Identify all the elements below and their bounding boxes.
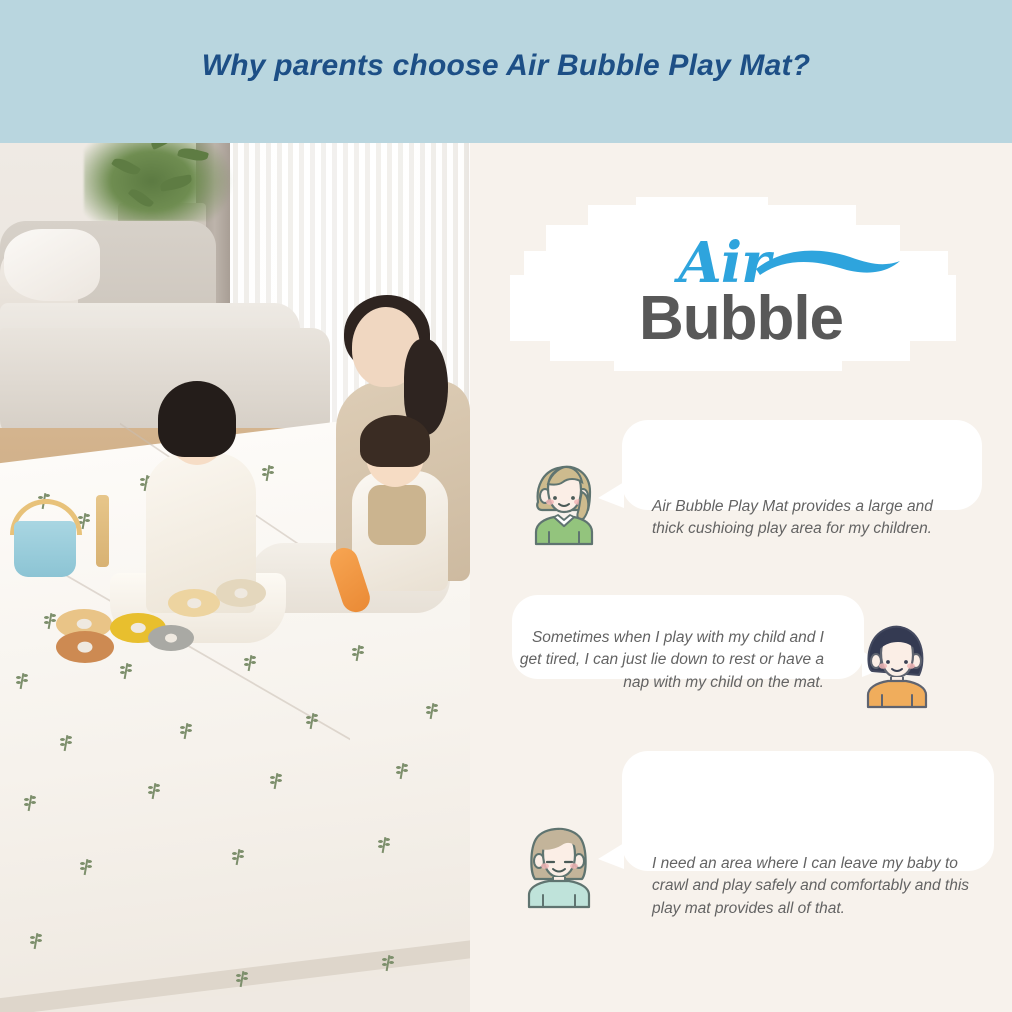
logo-bubble-text: Bubble — [510, 288, 972, 350]
avatar-dark-bob-orange-sweater — [864, 621, 930, 709]
testimonial-1: Air Bubble Play Mat provides a large and… — [470, 420, 1012, 570]
baby-hair — [360, 415, 430, 467]
lifestyle-photo — [0, 143, 470, 1012]
testimonial-text: Air Bubble Play Mat provides a large and… — [652, 496, 964, 541]
speech-bubble-tail — [598, 482, 624, 508]
stacking-ring — [216, 579, 266, 607]
header-banner: Why parents choose Air Bubble Play Mat? — [0, 0, 1012, 143]
stacking-ring — [56, 631, 114, 663]
wooden-stacking-peg — [96, 495, 109, 567]
plant-foliage — [84, 143, 234, 221]
logo-patch — [636, 197, 768, 217]
avatar-long-brown-hair-mint-sweater — [526, 821, 592, 909]
page-title: Why parents choose Air Bubble Play Mat? — [202, 49, 810, 83]
avatar-blonde-ponytail-green-sweater — [532, 458, 598, 546]
testimonial-text: Sometimes when I play with my child and … — [512, 627, 824, 694]
speech-bubble-tail — [598, 843, 624, 869]
testimonial-2: Sometimes when I play with my child and … — [470, 595, 1012, 755]
testimonial-3: I need an area where I can leave my baby… — [470, 751, 1012, 951]
stacking-ring — [148, 625, 194, 651]
sofa-cushion — [4, 229, 100, 301]
blue-bucket — [14, 521, 76, 577]
girl-hair — [158, 381, 236, 457]
logo-swoosh-icon — [754, 243, 904, 283]
infographic-page: Why parents choose Air Bubble Play Mat? — [0, 0, 1012, 1012]
baby-overall — [368, 485, 426, 545]
right-content-panel: Air Bubble — [470, 143, 1012, 1012]
brand-logo: Air Bubble — [510, 191, 972, 391]
stacking-ring — [168, 589, 220, 617]
testimonial-text: I need an area where I can leave my baby… — [652, 853, 982, 920]
